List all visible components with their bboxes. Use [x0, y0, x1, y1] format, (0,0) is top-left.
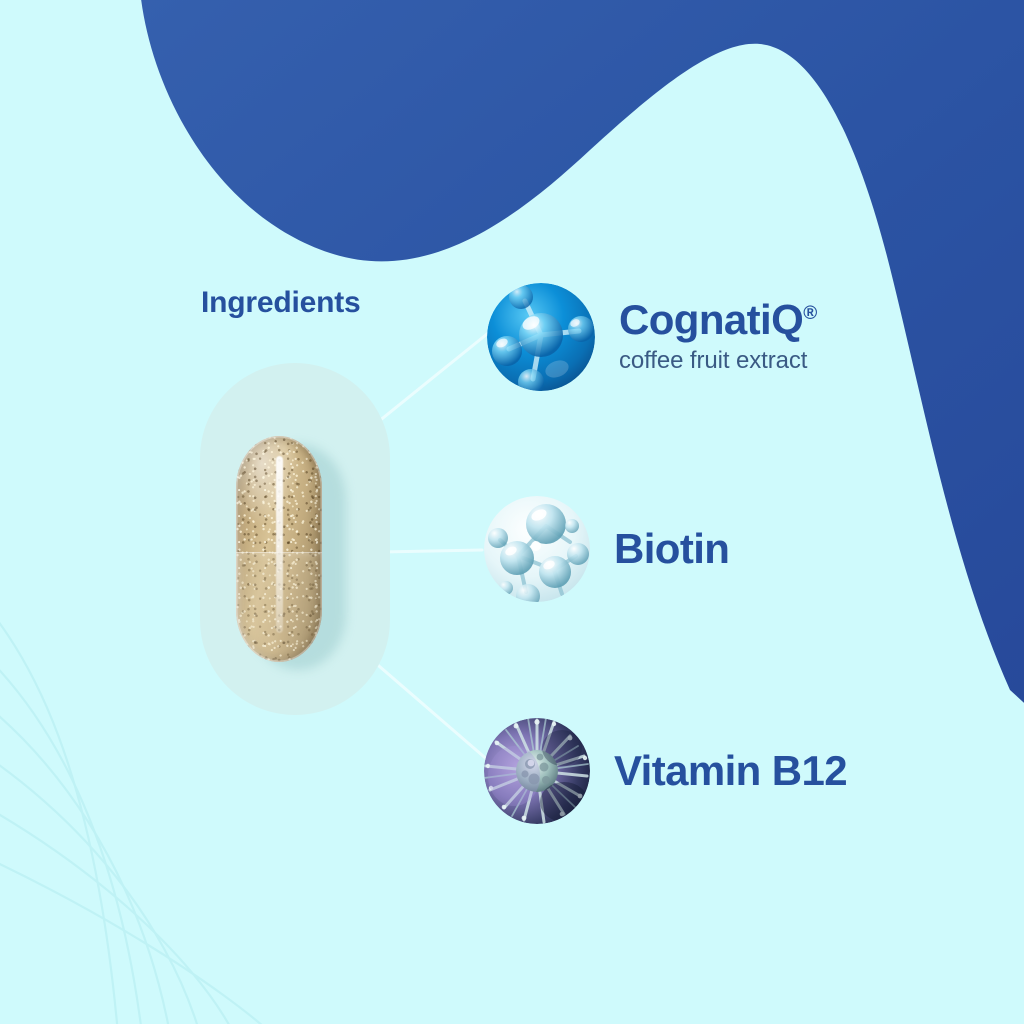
infographic-canvas: Ingredients	[0, 0, 1024, 1024]
ingredient-name-biotin: Biotin	[614, 528, 729, 571]
ingredient-name-cognatiq: CognatiQ®	[619, 299, 817, 342]
ingredient-name-vitamin-b12: Vitamin B12	[614, 750, 847, 793]
molecule-cyan-icon	[484, 496, 590, 602]
ingredient-text-vitamin-b12: Vitamin B12	[614, 750, 847, 793]
capsule-highlight	[276, 456, 283, 632]
ingredient-row-cognatiq: CognatiQ® coffee fruit extract	[487, 283, 817, 391]
capsule-body	[236, 436, 322, 662]
ingredient-text-cognatiq: CognatiQ® coffee fruit extract	[619, 299, 817, 375]
connector-line-2	[382, 550, 482, 552]
page-title: Ingredients	[201, 286, 361, 320]
registered-trademark-symbol: ®	[803, 303, 816, 324]
connector-line-3	[372, 660, 490, 762]
ingredient-text-biotin: Biotin	[614, 528, 729, 571]
ingredient-row-biotin: Biotin	[484, 496, 729, 602]
capsule-image	[232, 430, 344, 670]
molecule-blue-icon	[487, 283, 595, 391]
ingredient-subtitle-cognatiq: coffee fruit extract	[619, 347, 817, 375]
ingredient-name-text: CognatiQ	[619, 296, 803, 343]
crystal-purple-icon	[484, 718, 590, 824]
ingredient-row-vitamin-b12: Vitamin B12	[484, 718, 847, 824]
connector-line-1	[368, 330, 492, 430]
